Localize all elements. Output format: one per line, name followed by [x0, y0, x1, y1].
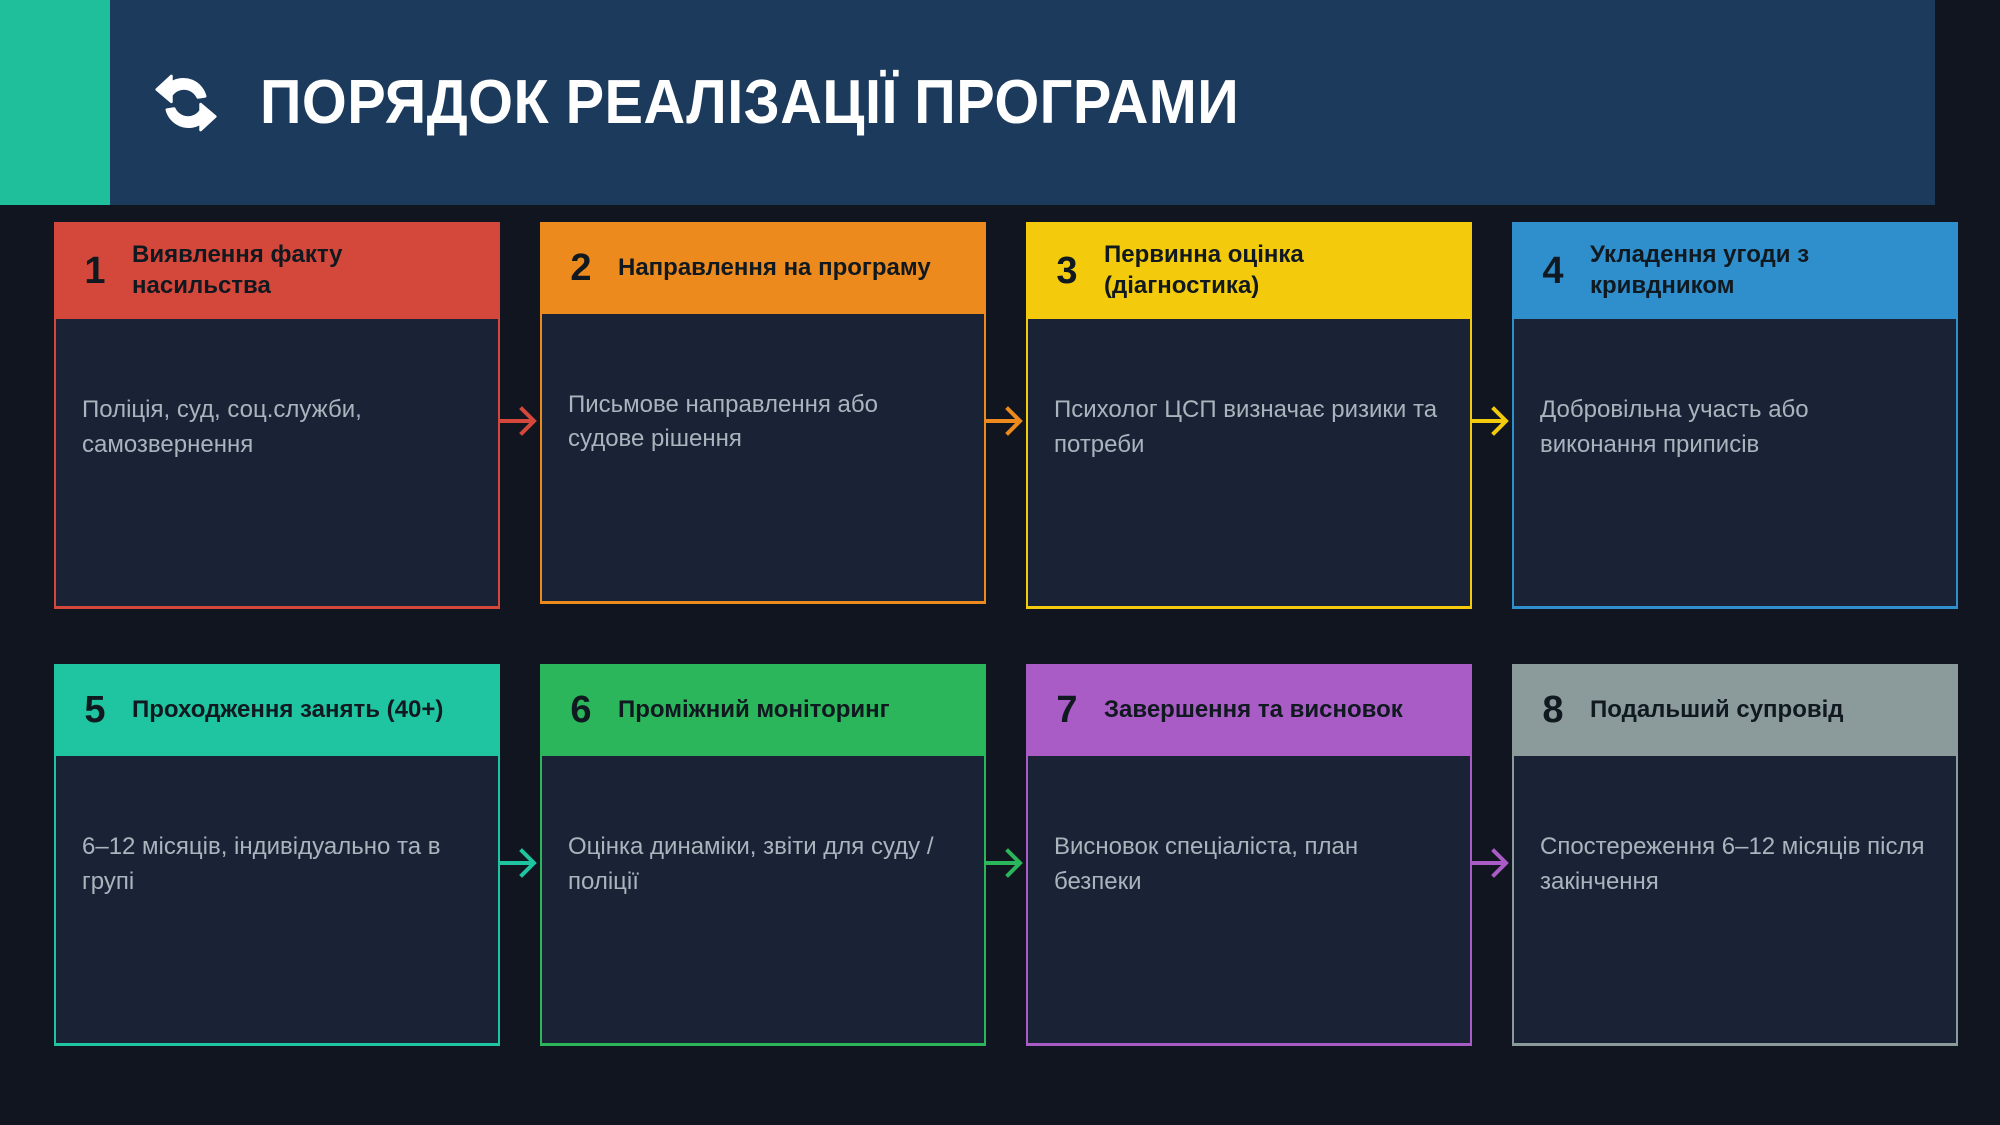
step-card-6[interactable]: 6 Проміжний моніторинг Оцінка динаміки, … [540, 664, 986, 1046]
step-5-number: 5 [82, 691, 108, 729]
step-card-2[interactable]: 2 Направлення на програму Письмове напра… [540, 222, 986, 609]
step-3-title: Первинна оцінка (діагностика) [1104, 240, 1452, 301]
step-5-body: 6–12 місяців, індивідуально та в групі [54, 756, 500, 1046]
process-flow-board: 1 Виявлення факту насильства Поліція, су… [54, 222, 1935, 1046]
step-7-description: Висновок спеціаліста, план безпеки [1054, 830, 1444, 898]
step-card-7[interactable]: 7 Завершення та висновок Висновок спеціа… [1026, 664, 1472, 1046]
step-3-description: Психолог ЦСП визначає ризики та потреби [1054, 393, 1444, 461]
step-6-number: 6 [568, 691, 594, 729]
process-row-1: 1 Виявлення факту насильства Поліція, су… [54, 222, 1935, 609]
connector-arrow-2-to-3 [986, 404, 1026, 438]
step-2-body: Письмове направлення або судове рішення [540, 314, 986, 604]
step-8-description: Спостереження 6–12 місяців після закінче… [1540, 830, 1930, 898]
step-4-description: Добровільна участь або виконання приписі… [1540, 393, 1930, 461]
step-4-number: 4 [1540, 252, 1566, 290]
step-7-body: Висновок спеціаліста, план безпеки [1026, 756, 1472, 1046]
step-6-title: Проміжний моніторинг [618, 695, 890, 726]
page-title: ПОРЯДОК РЕАЛІЗАЦІЇ ПРОГРАМИ [260, 72, 1239, 134]
step-3-number: 3 [1054, 252, 1080, 290]
connector-arrow-1-to-2 [500, 404, 540, 438]
step-2-description: Письмове направлення або судове рішення [568, 388, 958, 456]
step-4-title: Укладення угоди з кривдником [1590, 240, 1938, 301]
step-4-body: Добровільна участь або виконання приписі… [1512, 319, 1958, 609]
connector-arrow-7-to-8 [1472, 846, 1512, 880]
page-header: ПОРЯДОК РЕАЛІЗАЦІЇ ПРОГРАМИ [0, 0, 1935, 205]
connector-arrow-3-to-4 [1472, 404, 1512, 438]
step-1-body: Поліція, суд, соц.служби, самозвернення [54, 319, 500, 609]
header-content: ПОРЯДОК РЕАЛІЗАЦІЇ ПРОГРАМИ [150, 67, 1313, 139]
header-accent-bar [0, 0, 110, 205]
step-8-header: 8 Подальший супровід [1512, 664, 1958, 756]
step-5-title: Проходження занять (40+) [132, 695, 443, 726]
step-6-description: Оцінка динаміки, звіти для суду / поліці… [568, 830, 958, 898]
connector-arrow-5-to-6 [500, 846, 540, 880]
step-8-title: Подальший супровід [1590, 695, 1844, 726]
step-card-1[interactable]: 1 Виявлення факту насильства Поліція, су… [54, 222, 500, 609]
step-6-header: 6 Проміжний моніторинг [540, 664, 986, 756]
step-7-header: 7 Завершення та висновок [1026, 664, 1472, 756]
step-8-body: Спостереження 6–12 місяців після закінче… [1512, 756, 1958, 1046]
process-row-2: 5 Проходження занять (40+) 6–12 місяців,… [54, 664, 1935, 1046]
step-3-header: 3 Первинна оцінка (діагностика) [1026, 222, 1472, 319]
step-1-header: 1 Виявлення факту насильства [54, 222, 500, 319]
step-4-header: 4 Укладення угоди з кривдником [1512, 222, 1958, 319]
step-5-description: 6–12 місяців, індивідуально та в групі [82, 830, 472, 898]
step-2-title: Направлення на програму [618, 253, 931, 284]
step-card-4[interactable]: 4 Укладення угоди з кривдником Добровіль… [1512, 222, 1958, 609]
step-5-header: 5 Проходження занять (40+) [54, 664, 500, 756]
step-7-number: 7 [1054, 691, 1080, 729]
step-card-3[interactable]: 3 Первинна оцінка (діагностика) Психолог… [1026, 222, 1472, 609]
connector-arrow-6-to-7 [986, 846, 1026, 880]
step-1-number: 1 [82, 252, 108, 290]
step-8-number: 8 [1540, 691, 1566, 729]
step-2-header: 2 Направлення на програму [540, 222, 986, 314]
cycle-refresh-icon [150, 67, 222, 139]
step-card-5[interactable]: 5 Проходження занять (40+) 6–12 місяців,… [54, 664, 500, 1046]
step-3-body: Психолог ЦСП визначає ризики та потреби [1026, 319, 1472, 609]
step-2-number: 2 [568, 249, 594, 287]
step-1-title: Виявлення факту насильства [132, 240, 480, 301]
step-6-body: Оцінка динаміки, звіти для суду / поліці… [540, 756, 986, 1046]
step-1-description: Поліція, суд, соц.служби, самозвернення [82, 393, 472, 461]
step-card-8[interactable]: 8 Подальший супровід Спостереження 6–12 … [1512, 664, 1958, 1046]
step-7-title: Завершення та висновок [1104, 695, 1403, 726]
